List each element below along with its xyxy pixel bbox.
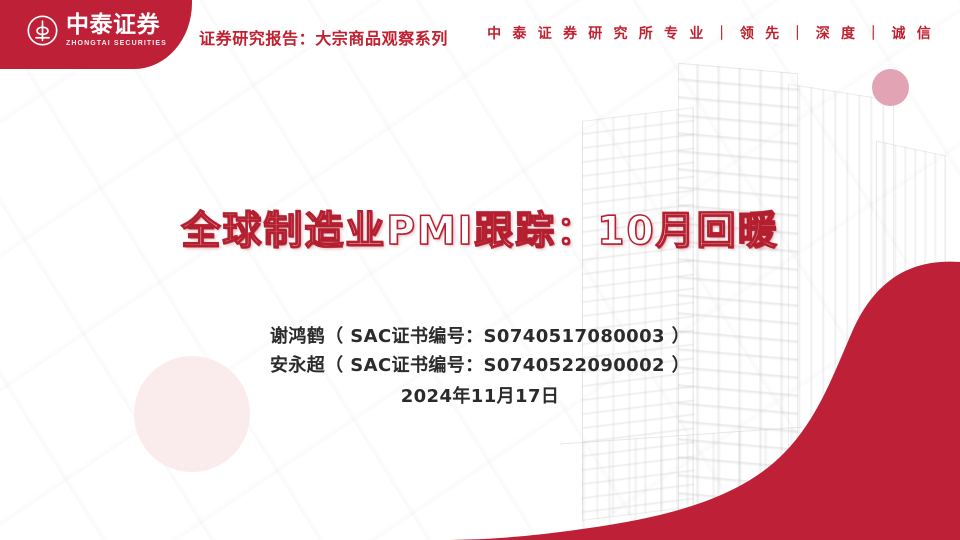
accent-circle xyxy=(872,69,909,106)
background-facet-texture xyxy=(0,0,960,540)
logo-name-en: ZHONGTAI SECURITIES xyxy=(66,40,167,47)
street-lamp-icon xyxy=(760,480,910,540)
brand-logo: 中泰证券 ZHONGTAI SECURITIES xyxy=(26,14,167,47)
author-block: 谢鸿鹤（ SAC证书编号：S0740517080003 ） 安永超（ SAC证书… xyxy=(0,322,960,412)
building-podium xyxy=(560,420,890,540)
report-series-subtitle: 证券研究报告：大宗商品观察系列 xyxy=(199,25,448,49)
author-line: 安永超（ SAC证书编号：S0740522090002 ） xyxy=(0,351,960,380)
zhongtai-logo-icon xyxy=(26,14,59,47)
building-tower-right xyxy=(788,84,894,521)
building-photo xyxy=(560,28,960,540)
logo-name-cn: 中泰证券 xyxy=(66,14,167,37)
page-title: 全球制造业PMI跟踪：10月回暖 xyxy=(0,200,960,256)
building-tower-center xyxy=(678,63,798,525)
research-institute-slogan: 中 泰 证 券 研 究 所 专 业 ｜ 领 先 ｜ 深 度 ｜ 诚 信 xyxy=(487,23,934,43)
street-lamp-icon xyxy=(810,446,930,516)
building-tower-left xyxy=(582,107,694,521)
report-cover-slide: 中泰证券 ZHONGTAI SECURITIES 证券研究报告：大宗商品观察系列… xyxy=(0,0,960,540)
author-line: 谢鸿鹤（ SAC证书编号：S0740517080003 ） xyxy=(0,322,960,351)
publication-date: 2024年11月17日 xyxy=(0,382,960,412)
